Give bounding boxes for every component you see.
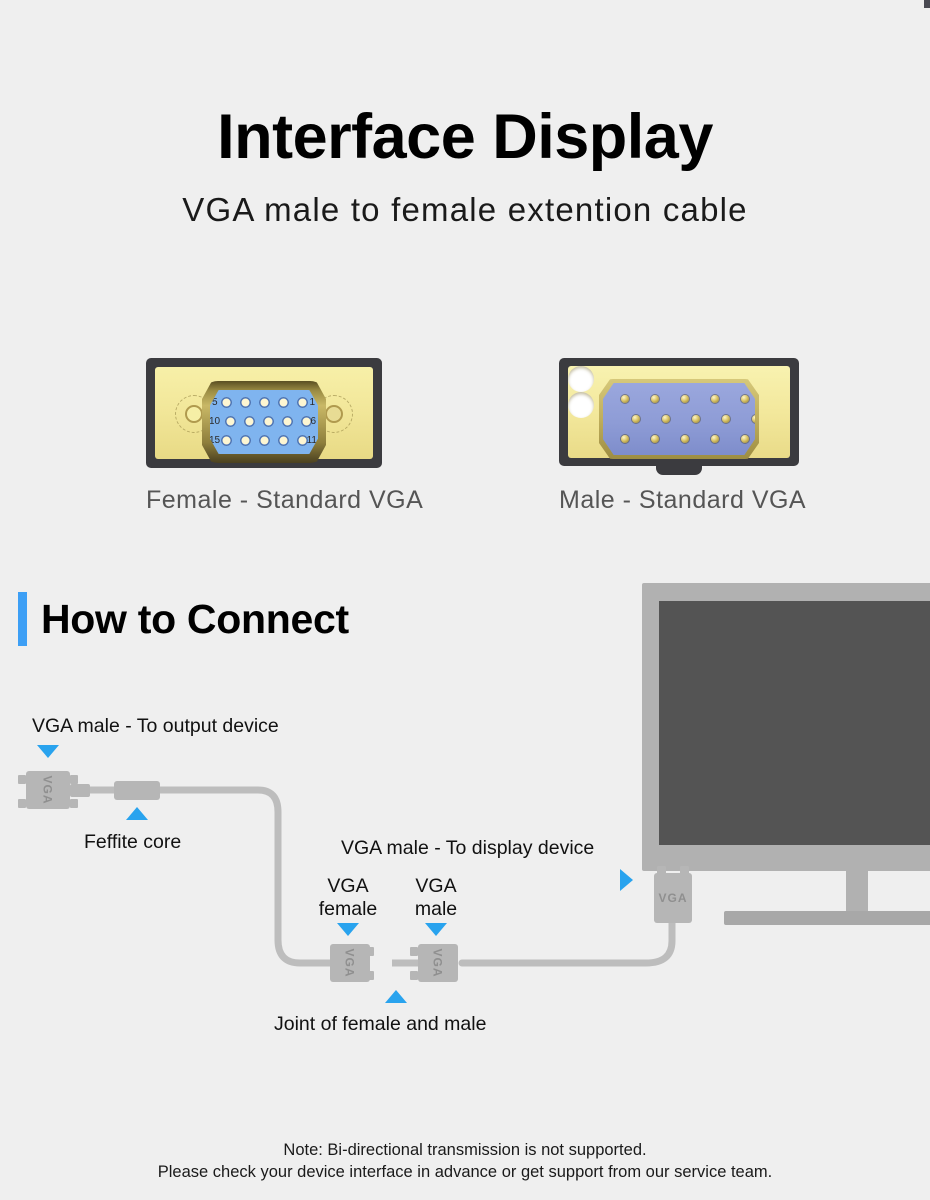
male-faceplate <box>568 366 790 458</box>
pin-number-10: 10 <box>209 416 220 427</box>
label-joint: Joint of female and male <box>274 1013 486 1036</box>
connector-ear-icon <box>18 775 26 784</box>
connector-ear-icon <box>680 866 689 874</box>
pin-hole <box>240 435 251 446</box>
pin <box>681 435 689 443</box>
screw-hole-left-icon <box>568 366 594 392</box>
vga-connector-label: VGA <box>658 891 687 905</box>
pin <box>621 435 629 443</box>
vga-connector-label: VGA <box>41 775 55 804</box>
pin <box>651 435 659 443</box>
connection-diagram: VGA male - To output device VGA Feffite … <box>0 575 930 1055</box>
vga-connector-monitor: VGA <box>654 873 692 923</box>
connector-ear-icon <box>18 799 26 808</box>
label-vga-male-line1: VGA <box>415 875 456 897</box>
male-dsub-shroud <box>599 379 759 459</box>
connector-ear-icon <box>366 947 374 956</box>
female-pin-field: 5 1 10 6 15 11 <box>210 390 318 454</box>
connector-ear-icon <box>410 947 418 956</box>
label-display-device: VGA male - To display device <box>341 837 594 860</box>
female-faceplate: 5 1 10 6 15 11 <box>155 367 373 459</box>
page-title: Interface Display <box>0 106 930 169</box>
arrow-down-female-icon <box>337 923 359 936</box>
pin-hole <box>278 435 289 446</box>
pin-hole <box>259 435 270 446</box>
corner-mark <box>924 0 930 8</box>
male-pin-field <box>603 383 755 455</box>
pin-number-5: 5 <box>212 397 218 408</box>
label-vga-female: VGA female <box>310 875 386 921</box>
pin-hole <box>221 397 232 408</box>
pin <box>621 395 629 403</box>
pin-number-1: 1 <box>309 397 315 408</box>
pin <box>651 395 659 403</box>
pin <box>711 395 719 403</box>
pin <box>681 395 689 403</box>
product-infographic-page: Interface Display VGA male to female ext… <box>0 0 930 1200</box>
pin <box>662 415 670 423</box>
label-vga-female-line2: female <box>319 898 378 920</box>
female-vga-connector-image: 5 1 10 6 15 11 <box>146 358 382 468</box>
pin-hole <box>244 416 255 427</box>
pin <box>632 415 640 423</box>
header: Interface Display VGA male to female ext… <box>0 106 930 229</box>
footer-note-line1: Note: Bi-directional transmission is not… <box>0 1140 930 1162</box>
male-connector-figure: Male - Standard VGA <box>559 358 799 466</box>
label-output-device: VGA male - To output device <box>32 715 279 738</box>
pin-hole <box>263 416 274 427</box>
pin <box>741 435 749 443</box>
connector-showcase: 5 1 10 6 15 11 Female - Standard VGA <box>0 358 930 538</box>
connector-ear-icon <box>70 799 78 808</box>
arrow-up-ferrite-icon <box>126 807 148 820</box>
pin-number-6: 6 <box>310 416 316 427</box>
footer-note-line2: Please check your device interface in ad… <box>0 1162 930 1184</box>
ferrite-core <box>114 781 160 800</box>
pin-hole <box>225 416 236 427</box>
pin-number-11: 11 <box>307 435 317 446</box>
connector-ear-icon <box>70 775 78 784</box>
vga-connector-female-joint: VGA <box>330 944 370 982</box>
vga-connector-label: VGA <box>343 948 357 977</box>
label-vga-male: VGA male <box>398 875 474 921</box>
arrow-down-output-icon <box>37 745 59 758</box>
screw-hole-right-icon <box>568 392 594 418</box>
screw-hole-left-icon <box>185 405 203 423</box>
footer-note: Note: Bi-directional transmission is not… <box>0 1140 930 1184</box>
pin <box>711 435 719 443</box>
pin <box>692 415 700 423</box>
pin-hole <box>240 397 251 408</box>
male-connector-tab <box>656 464 702 475</box>
arrow-up-joint-icon <box>385 990 407 1003</box>
connector-ear-icon <box>410 971 418 980</box>
arrow-right-display-icon <box>620 869 633 891</box>
pin-hole <box>297 397 308 408</box>
connector-plug-tip <box>70 784 90 797</box>
pin-hole <box>278 397 289 408</box>
male-vga-connector-image <box>559 358 799 466</box>
page-subtitle: VGA male to female extention cable <box>0 191 930 229</box>
label-ferrite-core: Feffite core <box>84 831 181 854</box>
connector-ear-icon <box>366 971 374 980</box>
vga-connector-output: VGA <box>26 771 70 809</box>
vga-connector-label: VGA <box>431 948 445 977</box>
female-connector-figure: 5 1 10 6 15 11 Female - Standard VGA <box>146 358 382 468</box>
pin <box>741 395 749 403</box>
arrow-down-male-icon <box>425 923 447 936</box>
pin-hole <box>259 397 270 408</box>
screw-hole-right-icon <box>325 405 343 423</box>
label-vga-male-line2: male <box>415 898 457 920</box>
pin <box>722 415 730 423</box>
pin-hole <box>282 416 293 427</box>
vga-connector-male-joint: VGA <box>418 944 458 982</box>
female-dsub-opening: 5 1 10 6 15 11 <box>202 381 326 463</box>
female-connector-caption: Female - Standard VGA <box>146 486 382 515</box>
pin-number-15: 15 <box>209 435 220 446</box>
male-connector-caption: Male - Standard VGA <box>559 486 799 515</box>
pin-hole <box>221 435 232 446</box>
label-vga-female-line1: VGA <box>327 875 368 897</box>
pin <box>752 415 760 423</box>
connector-ear-icon <box>657 866 666 874</box>
